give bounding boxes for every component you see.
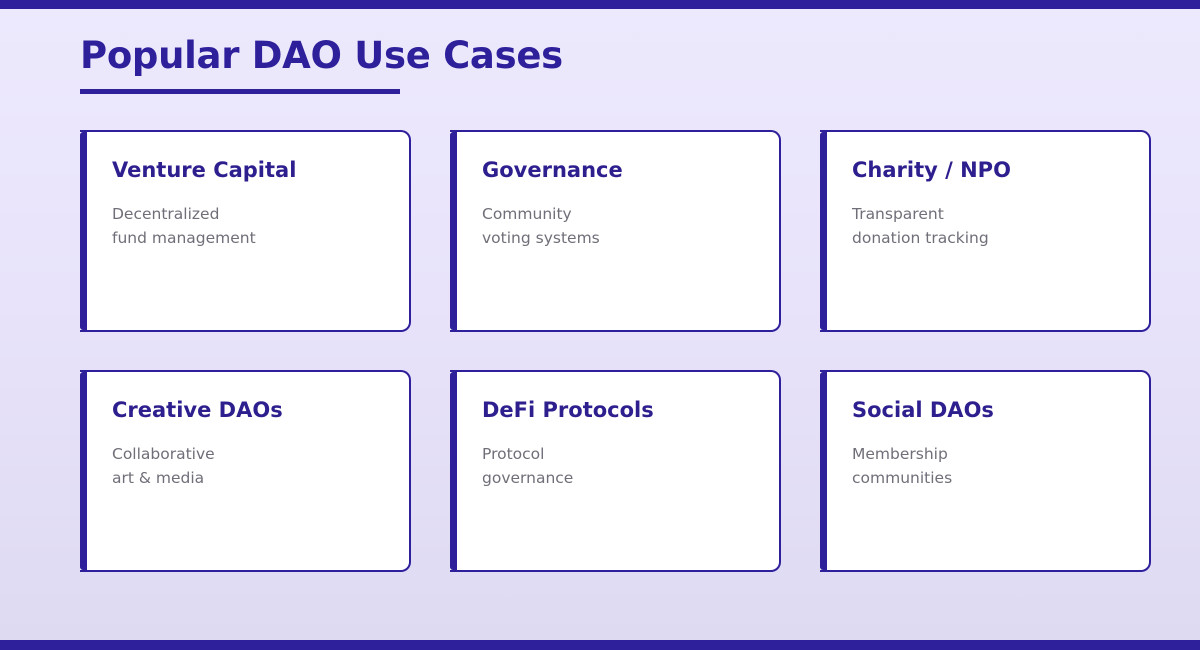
title-underline (80, 89, 400, 94)
card-title: Governance (482, 156, 753, 184)
card-title: Charity / NPO (852, 156, 1123, 184)
card-description: Protocol governance (482, 442, 753, 490)
card-accent-bar (450, 132, 457, 330)
use-case-card-defi-protocols[interactable]: DeFi Protocols Protocol governance (450, 370, 781, 572)
card-description: Community voting systems (482, 202, 753, 250)
card-accent-bar (80, 372, 87, 570)
use-case-card-grid: Venture Capital Decentralized fund manag… (80, 130, 1151, 572)
card-title: Venture Capital (112, 156, 383, 184)
use-case-card-social-daos[interactable]: Social DAOs Membership communities (820, 370, 1151, 572)
use-case-card-venture-capital[interactable]: Venture Capital Decentralized fund manag… (80, 130, 411, 332)
card-description: Decentralized fund management (112, 202, 383, 250)
card-accent-bar (450, 372, 457, 570)
card-description: Collaborative art & media (112, 442, 383, 490)
card-accent-bar (820, 132, 827, 330)
card-description: Transparent donation tracking (852, 202, 1123, 250)
slide-canvas: Popular DAO Use Cases Venture Capital De… (0, 0, 1200, 650)
card-title: Social DAOs (852, 396, 1123, 424)
heading-block: Popular DAO Use Cases (80, 30, 563, 94)
card-description: Membership communities (852, 442, 1123, 490)
card-accent-bar (820, 372, 827, 570)
card-title: DeFi Protocols (482, 396, 753, 424)
use-case-card-charity-npo[interactable]: Charity / NPO Transparent donation track… (820, 130, 1151, 332)
top-accent-rule (0, 0, 1200, 9)
page-title: Popular DAO Use Cases (80, 30, 563, 82)
use-case-card-governance[interactable]: Governance Community voting systems (450, 130, 781, 332)
bottom-accent-rule (0, 640, 1200, 650)
card-title: Creative DAOs (112, 396, 383, 424)
use-case-card-creative-daos[interactable]: Creative DAOs Collaborative art & media (80, 370, 411, 572)
card-accent-bar (80, 132, 87, 330)
